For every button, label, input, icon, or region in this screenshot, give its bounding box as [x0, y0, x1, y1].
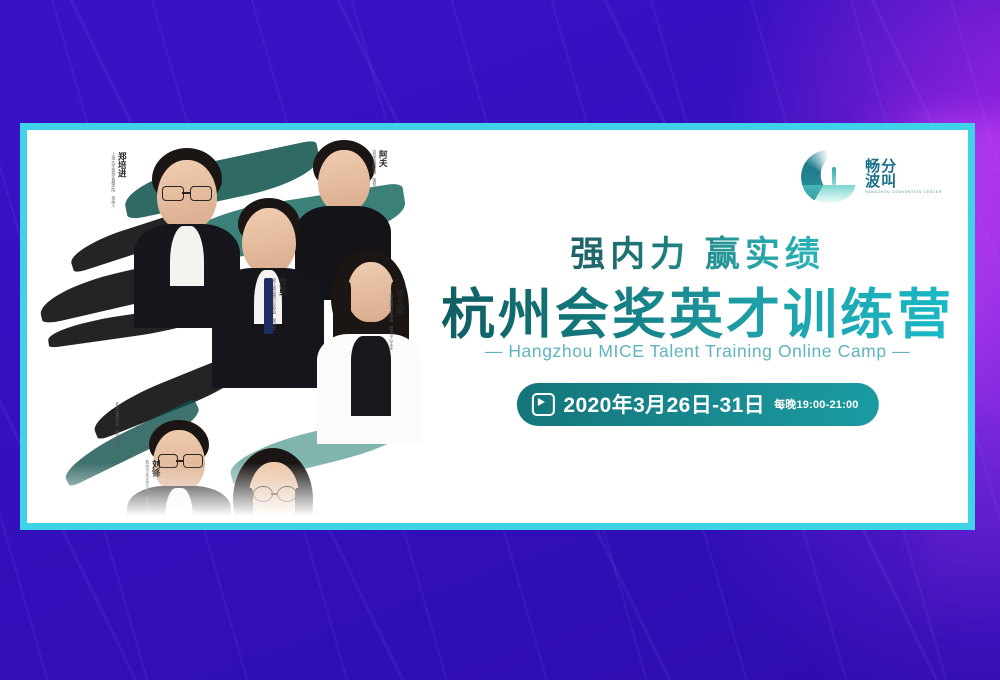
badge-time: 每晚19:00-21:00 — [774, 396, 859, 412]
speaker-title: 浙江省会展行业协会 秘书长 — [272, 278, 277, 330]
speaker-name-label-2: 阿夫 资深会展营销 策划人 — [372, 150, 387, 190]
brand-logo: 畅分 波叫 HANGZHOU CONVENTION CENTER — [799, 146, 942, 208]
speaker-title: 上海会展行业协会 培训中心主任 — [389, 290, 394, 350]
speaker-photo-4 — [317, 248, 421, 444]
badge-date: 2020年3月26日-31日 — [563, 389, 765, 419]
poster-headline: 杭州会奖英才训练营 — [441, 270, 954, 349]
poster-card: 郑培进 上海大学旅游会展学院 创始人 阿夫 资深会展营销 策划人 黄勇 浙江省会… — [20, 123, 975, 530]
poster-stage: 郑培进 上海大学旅游会展学院 创始人 阿夫 资深会展营销 策划人 黄勇 浙江省会… — [0, 0, 1000, 680]
speaker-name-label-5: 许锋 杭州会展行业 资深顾问 — [115, 402, 130, 446]
brand-name-line2: 波叫 — [865, 174, 942, 189]
brand-wordmark: 畅分 波叫 HANGZHOU CONVENTION CENTER — [865, 159, 942, 195]
collage-bottom-fade — [27, 463, 427, 523]
speaker-name-label-1: 郑培进 上海大学旅游会展学院 创始人 — [111, 152, 126, 208]
speaker-name: 许锋 — [121, 402, 131, 419]
video-camera-icon — [531, 393, 554, 416]
brand-subtext: HANGZHOU CONVENTION CENTER — [865, 191, 942, 195]
speaker-name: 郑培进 — [117, 152, 127, 178]
speaker-name-label-3: 黄勇 浙江省会展行业协会 秘书长 — [272, 278, 287, 330]
brand-name-line1: 畅分 — [865, 159, 942, 174]
speaker-title: 杭州会展行业 资深顾问 — [115, 402, 120, 446]
poster-text-block: 畅分 波叫 HANGZHOU CONVENTION CENTER 强内力 赢实绩… — [427, 130, 968, 523]
speaker-name: 阿夫 — [378, 150, 388, 167]
date-time-badge: 2020年3月26日-31日 每晚19:00-21:00 — [516, 383, 878, 426]
speaker-name: 黄勇 — [278, 278, 288, 295]
speaker-name-label-4: 李文琴 上海会展行业协会 培训中心主任 — [389, 290, 404, 350]
speaker-title: 上海大学旅游会展学院 创始人 — [111, 152, 116, 208]
speaker-name: 李文琴 — [395, 290, 405, 316]
speaker-title: 资深会展营销 策划人 — [372, 150, 377, 190]
speaker-collage: 郑培进 上海大学旅游会展学院 创始人 阿夫 资深会展营销 策划人 黄勇 浙江省会… — [27, 130, 427, 523]
poster-card-inner: 郑培进 上海大学旅游会展学院 创始人 阿夫 资深会展营销 策划人 黄勇 浙江省会… — [27, 130, 968, 523]
poster-subtitle-english: — Hangzhou MICE Talent Training Online C… — [485, 341, 910, 362]
speaker-photo-3 — [212, 198, 324, 388]
moon-landscape-icon — [799, 146, 861, 208]
